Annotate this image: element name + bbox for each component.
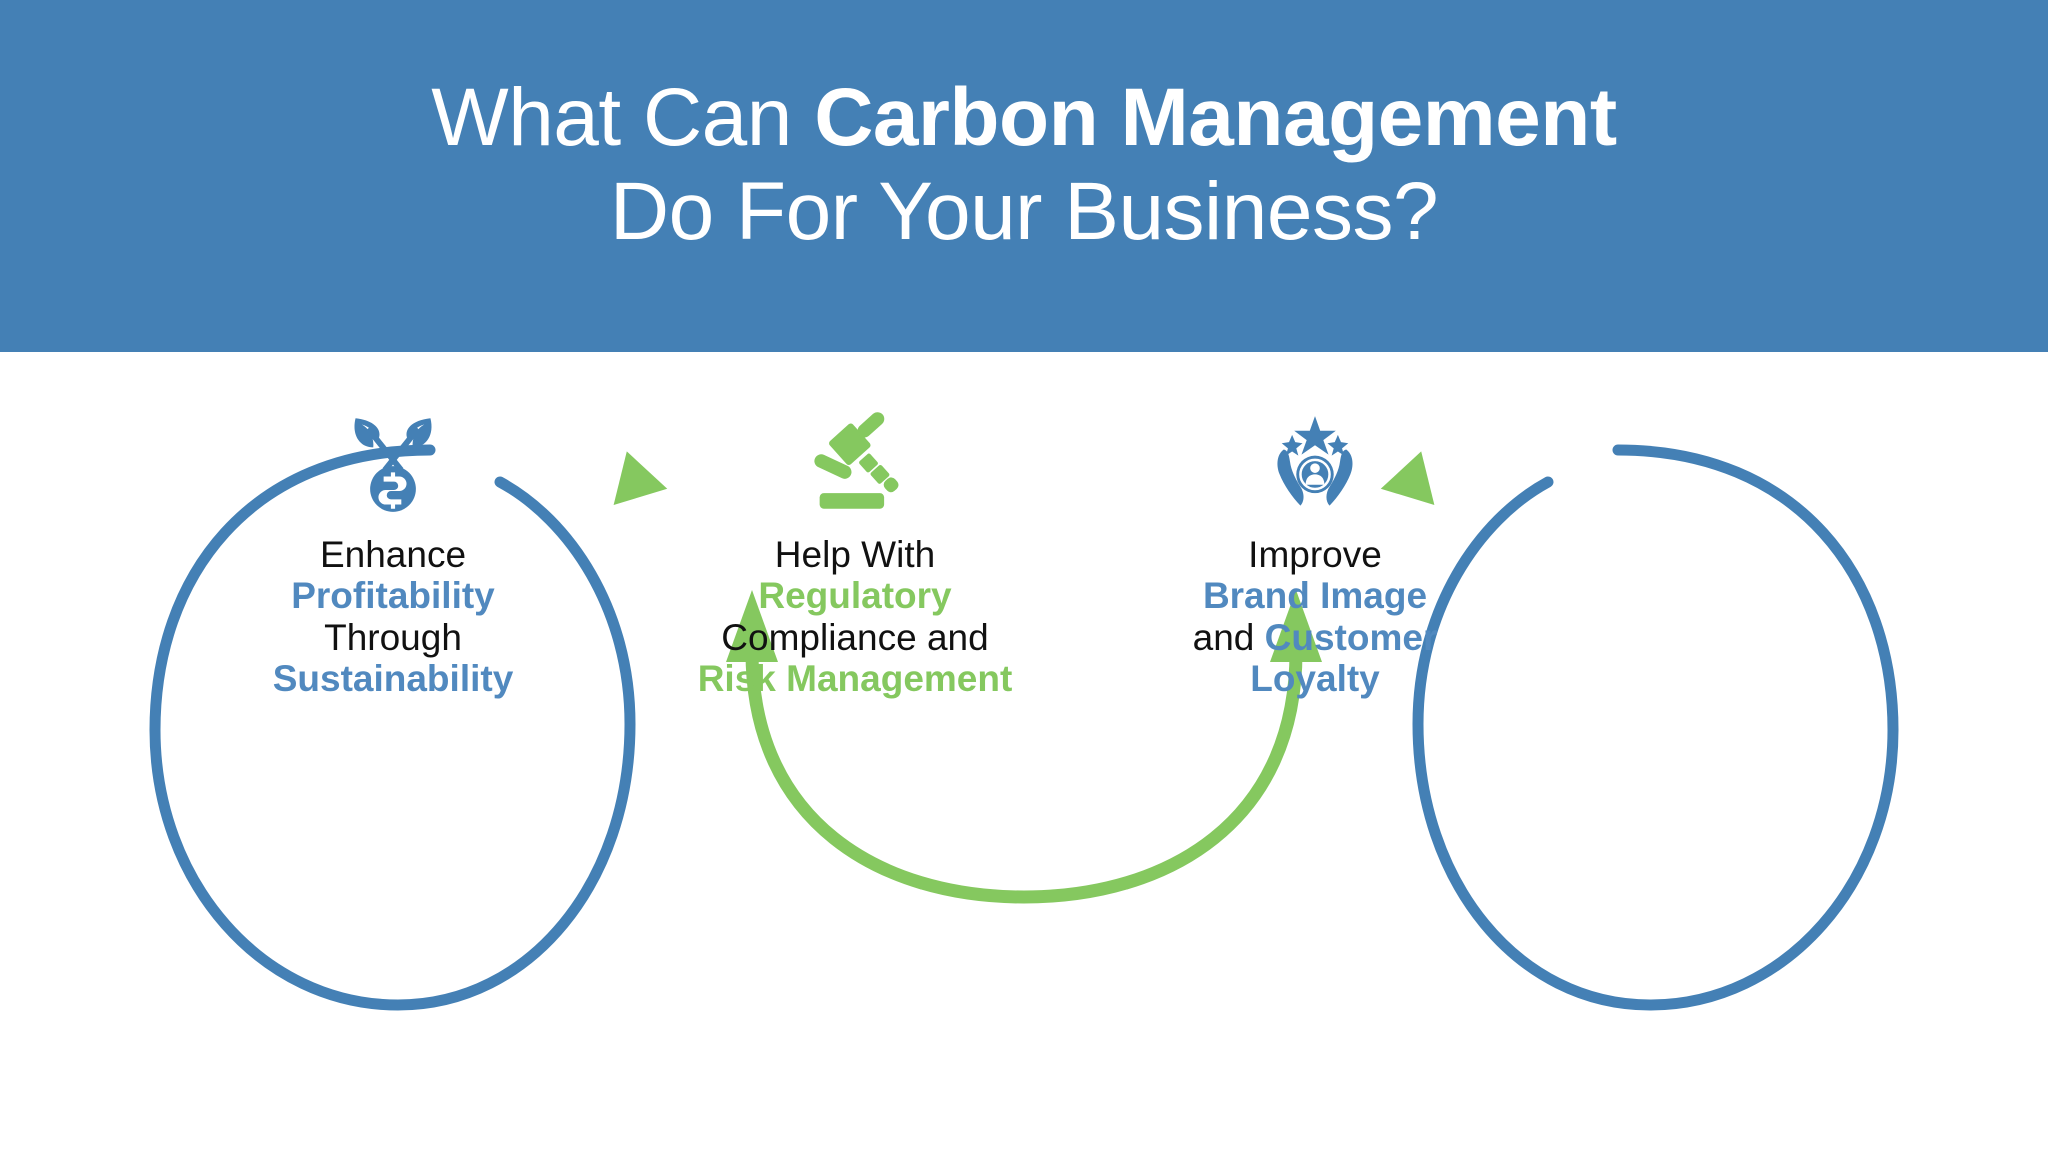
page-title-line-2: Do For Your Business?: [610, 171, 1438, 253]
node-3-line-4: Loyalty: [1193, 658, 1438, 699]
gavel-icon: [801, 412, 909, 516]
node-1-line-2: Profitability: [273, 575, 514, 616]
node-compliance-text: Help With Regulatory Compliance and Risk…: [698, 534, 1013, 700]
hands-holding-customer-star-icon: [1261, 412, 1369, 516]
node-2-line-2: Regulatory: [698, 575, 1013, 616]
page-title-bold: Carbon Management: [814, 72, 1617, 163]
infographic-diagram: Enhance Profitability Through Sustainabi…: [0, 352, 2048, 1152]
node-3-line-3-accent: Customer: [1265, 617, 1438, 658]
node-compliance[interactable]: Help With Regulatory Compliance and Risk…: [640, 412, 1070, 700]
node-brand-loyalty[interactable]: Improve Brand Image and Customer Loyalty: [1100, 412, 1530, 700]
node-3-line-3: and Customer: [1193, 617, 1438, 658]
node-3-line-2: Brand Image: [1193, 575, 1438, 616]
node-2-line-3: Compliance and: [698, 617, 1013, 658]
node-profitability-text: Enhance Profitability Through Sustainabi…: [273, 534, 514, 700]
money-bag-sprout-icon: [339, 412, 447, 516]
node-1-line-1: Enhance: [273, 534, 514, 575]
node-1-line-4: Sustainability: [273, 658, 514, 699]
node-3-line-1: Improve: [1193, 534, 1438, 575]
node-2-line-1: Help With: [698, 534, 1013, 575]
page-title-regular: What Can: [431, 72, 814, 163]
page-title-line-1: What Can Carbon Management: [431, 77, 1616, 159]
node-2-line-4: Risk Management: [698, 658, 1013, 699]
node-3-line-3-plain: and: [1193, 617, 1265, 658]
node-brand-loyalty-text: Improve Brand Image and Customer Loyalty: [1193, 534, 1438, 700]
header-banner: What Can Carbon Management Do For Your B…: [0, 0, 2048, 352]
node-1-line-3: Through: [273, 617, 514, 658]
node-profitability[interactable]: Enhance Profitability Through Sustainabi…: [178, 412, 608, 700]
